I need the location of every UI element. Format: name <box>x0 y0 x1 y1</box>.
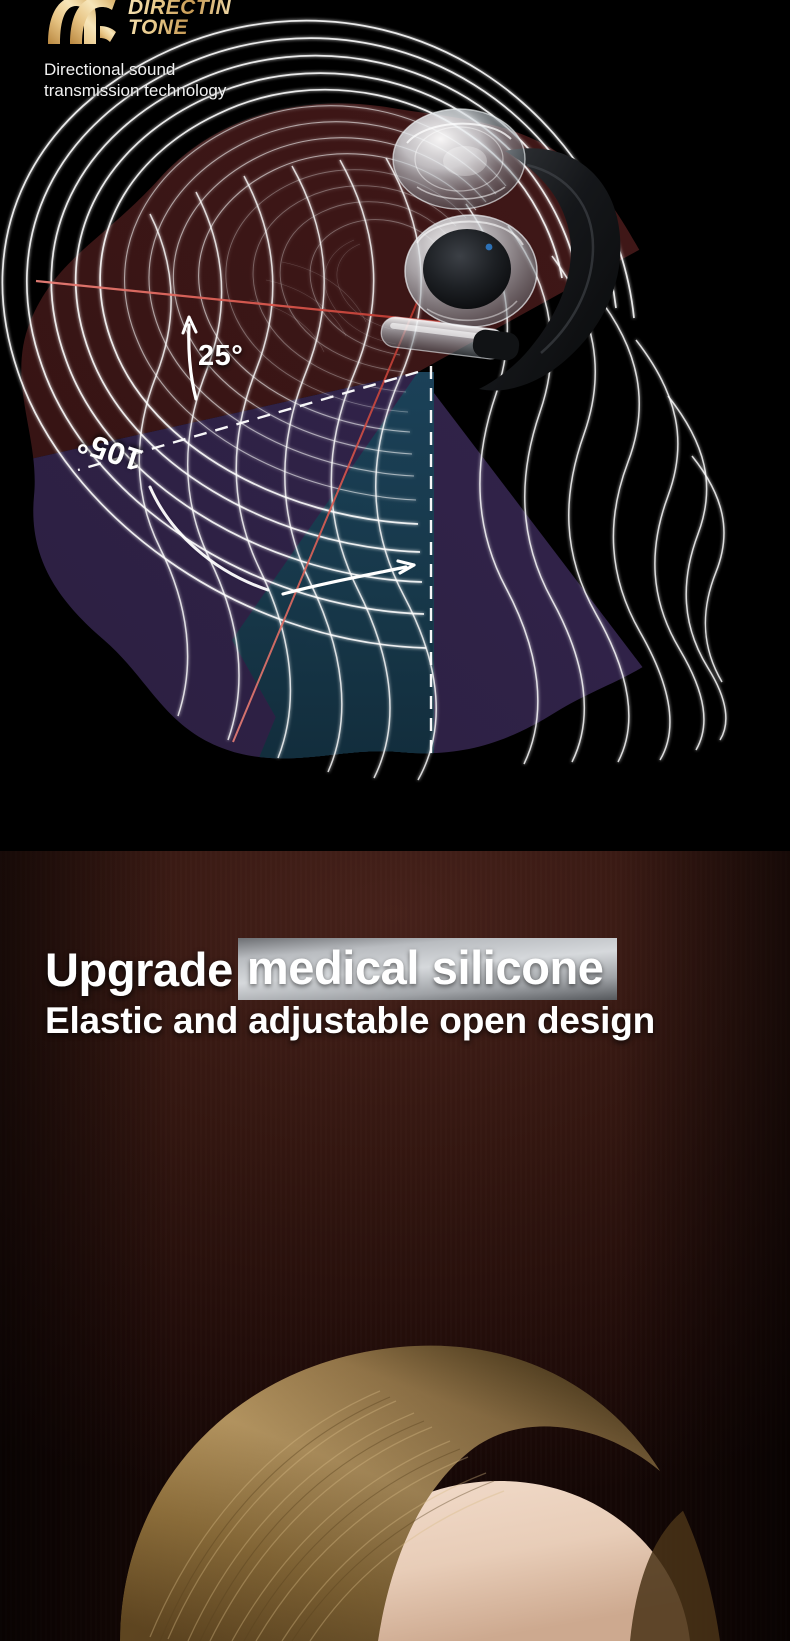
angle-label-25: 25° <box>198 340 243 373</box>
earphone-driver <box>423 229 511 309</box>
directin-tone-logo-icon <box>44 0 118 44</box>
silicone-heading: Upgrade medical silicone <box>0 938 790 1000</box>
brand-tagline: Directional sound transmission technolog… <box>44 60 231 101</box>
earphone-product-image <box>355 95 645 405</box>
section-directional-sound: 25° 105° <box>0 0 790 851</box>
model-head-photo <box>0 1241 790 1641</box>
section-medical-silicone: Upgrade medical silicone Elastic and adj… <box>0 851 790 1641</box>
brand-block: DIRECTIN TONE Directional sound transmis… <box>44 0 231 101</box>
brand-row: DIRECTIN TONE <box>44 0 231 52</box>
heading-highlight-text: medical silicone <box>238 938 617 1000</box>
silicone-subheading: Elastic and adjustable open design <box>45 1000 655 1042</box>
brand-wordmark: DIRECTIN TONE <box>128 0 231 39</box>
earphone-led-dot <box>486 244 493 251</box>
heading-plain-text: Upgrade <box>45 946 233 993</box>
